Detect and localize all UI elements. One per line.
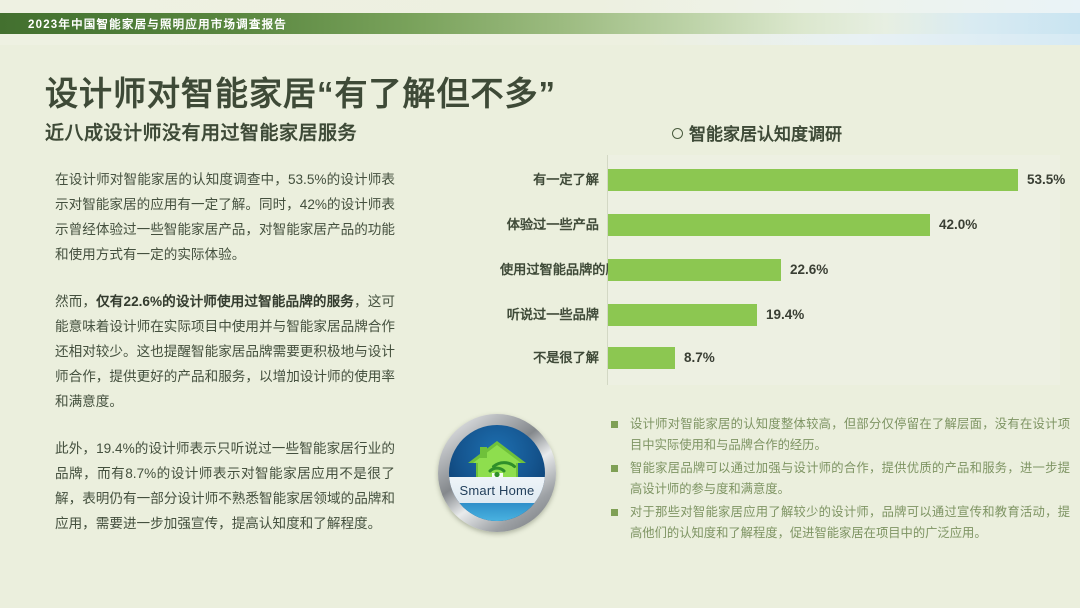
badge-label: Smart Home	[460, 483, 535, 498]
square-bullet-icon	[611, 465, 618, 472]
bar-row: 使用过智能品牌的服务22.6%	[500, 258, 1060, 282]
page-subtitle: 近八成设计师没有用过智能家居服务	[45, 118, 357, 145]
bar-row: 听说过一些品牌19.4%	[500, 303, 1060, 327]
bar-value-label: 22.6%	[790, 258, 828, 282]
takeaway-list: 设计师对智能家居的认知度整体较高，但部分仅停留在了解层面，没有在设计项目中实际使…	[608, 414, 1070, 546]
takeaway-text: 对于那些对智能家居应用了解较少的设计师，品牌可以通过宣传和教育活动，提高他们的认…	[630, 505, 1070, 540]
smart-home-badge: Smart Home	[438, 414, 556, 532]
bar-fill	[608, 304, 757, 326]
bar-fill	[608, 347, 675, 369]
square-bullet-icon	[611, 421, 618, 428]
bar-category-label: 使用过智能品牌的服务	[500, 258, 599, 282]
bar-value-label: 8.7%	[684, 346, 715, 370]
bar-category-label: 听说过一些品牌	[500, 303, 599, 327]
paragraph-2-highlight: 仅有22.6%的设计师使用过智能品牌的服务	[96, 294, 354, 309]
badge-inner-disc: Smart Home	[449, 425, 545, 521]
bar-row: 体验过一些产品42.0%	[500, 213, 1060, 237]
takeaway-item: 设计师对智能家居的认知度整体较高，但部分仅停留在了解层面，没有在设计项目中实际使…	[608, 414, 1070, 456]
body-text-column: 在设计师对智能家居的认知度调查中，53.5%的设计师表示对智能家居的应用有一定了…	[55, 167, 395, 558]
bar-fill	[608, 214, 930, 236]
takeaway-item: 对于那些对智能家居应用了解较少的设计师，品牌可以通过宣传和教育活动，提高他们的认…	[608, 502, 1070, 544]
takeaway-item: 智能家居品牌可以通过加强与设计师的合作，提供优质的产品和服务，进一步提高设计师的…	[608, 458, 1070, 500]
paragraph-2-lead: 然而，	[55, 294, 96, 309]
bar-value-label: 53.5%	[1027, 168, 1065, 192]
page-title: 设计师对智能家居“有了解但不多”	[45, 67, 556, 115]
bar-category-label: 有一定了解	[500, 168, 599, 192]
bar-fill	[608, 259, 781, 281]
square-bullet-icon	[611, 509, 618, 516]
paragraph-2-rest: ，这可能意味着设计师在实际项目中使用并与智能家居品牌合作还相对较少。这也提醒智能…	[55, 294, 395, 409]
bar-category-label: 体验过一些产品	[500, 213, 599, 237]
takeaway-text: 设计师对智能家居的认知度整体较高，但部分仅停留在了解层面，没有在设计项目中实际使…	[630, 417, 1070, 452]
awareness-bar-chart: 有一定了解53.5%体验过一些产品42.0%使用过智能品牌的服务22.6%听说过…	[500, 155, 1060, 385]
chart-title-text: 智能家居认知度调研	[689, 125, 842, 144]
badge-bottom-accent	[449, 503, 545, 521]
top-decor-strip	[0, 0, 1080, 13]
paragraph-2: 然而，仅有22.6%的设计师使用过智能品牌的服务，这可能意味着设计师在实际项目中…	[55, 289, 395, 414]
badge-label-strip: Smart Home	[449, 477, 545, 503]
ring-bullet-icon	[672, 128, 683, 139]
paragraph-3: 此外，19.4%的设计师表示只听说过一些智能家居行业的品牌，而有8.7%的设计师…	[55, 436, 395, 536]
bar-fill	[608, 169, 1018, 191]
report-title: 2023年中国智能家居与照明应用市场调查报告	[28, 16, 287, 32]
chart-title: 智能家居认知度调研	[672, 120, 842, 145]
bar-row: 不是很了解8.7%	[500, 346, 1060, 370]
bar-value-label: 42.0%	[939, 213, 977, 237]
paragraph-1: 在设计师对智能家居的认知度调查中，53.5%的设计师表示对智能家居的应用有一定了…	[55, 167, 395, 267]
bar-category-label: 不是很了解	[500, 346, 599, 370]
header-bottom-strip	[0, 34, 1080, 45]
bar-value-label: 19.4%	[766, 303, 804, 327]
slide-root: 2023年中国智能家居与照明应用市场调查报告 设计师对智能家居“有了解但不多” …	[0, 0, 1080, 608]
takeaway-text: 智能家居品牌可以通过加强与设计师的合作，提供优质的产品和服务，进一步提高设计师的…	[630, 461, 1070, 496]
bar-row: 有一定了解53.5%	[500, 168, 1060, 192]
